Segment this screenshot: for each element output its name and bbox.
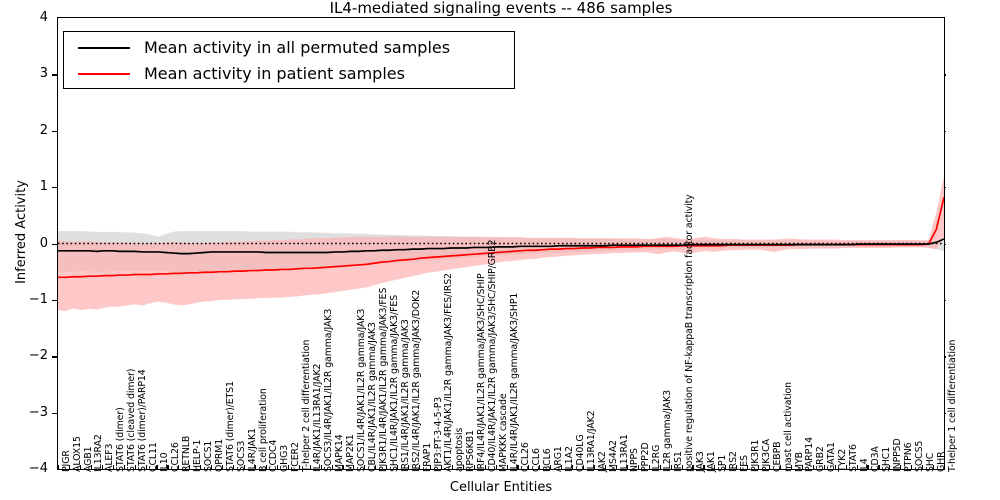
x-tick-mark [222, 465, 223, 470]
x-tick-label: IRS1/IL4R/JAK1/IL2R gamma/JAK3 [401, 319, 410, 472]
x-tick-mark [550, 465, 551, 470]
x-tick-label: SOCS1/IL4R/JAK1/IL2R gamma/JAK3 [357, 309, 366, 472]
x-tick-mark [802, 465, 803, 470]
x-tick-mark [167, 465, 168, 470]
x-tick-mark [682, 465, 683, 470]
x-tick-mark [146, 465, 147, 470]
x-tick-label: IRF4/IL4R/JAK1/IL2R gamma/JAK3/SHC/SHIP [477, 273, 486, 472]
x-tick-mark [200, 465, 201, 470]
x-tick-mark [211, 465, 212, 470]
x-tick-label: IL4R/JAK1/IL13RA1/JAK2 [313, 364, 322, 472]
x-tick-mark [485, 465, 486, 470]
x-tick-label: STAT6 (dimer)/ETS1 [226, 381, 235, 472]
x-axis-ticks: PIGRALOX15AGB1IL13RA2ALEF3STAT6 (dimer)S… [0, 0, 1000, 500]
x-tick-mark [277, 465, 278, 470]
x-tick-mark [922, 465, 923, 470]
x-tick-label: IL2R gamma/JAK3 [663, 390, 672, 472]
x-tick-mark [135, 465, 136, 470]
x-tick-mark [911, 465, 912, 470]
x-tick-mark [572, 465, 573, 470]
x-tick-mark [692, 465, 693, 470]
chart-root: IL4-mediated signaling events -- 486 sam… [0, 0, 1000, 500]
x-tick-mark [703, 465, 704, 470]
x-tick-label: T-helper 1 cell differentiation [948, 340, 957, 472]
x-tick-mark [386, 465, 387, 470]
x-tick-mark [80, 465, 81, 470]
x-tick-mark [124, 465, 125, 470]
x-tick-mark [507, 465, 508, 470]
x-tick-mark [113, 465, 114, 470]
x-tick-label: PIK3R1/IL4R/JAK1/IL2R gamma/JAK3/FES [379, 288, 388, 472]
x-tick-mark [660, 465, 661, 470]
x-tick-mark [824, 465, 825, 470]
x-tick-mark [627, 465, 628, 470]
x-tick-mark [463, 465, 464, 470]
x-tick-mark [867, 465, 868, 470]
x-tick-mark [474, 465, 475, 470]
x-tick-mark [539, 465, 540, 470]
x-tick-mark [441, 465, 442, 470]
x-tick-mark [944, 465, 945, 470]
x-tick-mark [266, 465, 267, 470]
x-tick-mark [758, 465, 759, 470]
x-tick-mark [769, 465, 770, 470]
x-tick-mark [714, 465, 715, 470]
x-tick-label: B cell proliferation [259, 388, 268, 472]
x-tick-mark [91, 465, 92, 470]
x-tick-mark [321, 465, 322, 470]
x-tick-mark [594, 465, 595, 470]
x-tick-label: STAT6 (dimer) [116, 407, 125, 472]
x-tick-mark [933, 465, 934, 470]
x-tick-mark [857, 465, 858, 470]
x-tick-mark [835, 465, 836, 470]
x-tick-label: STAT6 (dimer)/PARP14 [138, 369, 147, 472]
x-tick-label: MAPKKK cascade [499, 393, 508, 472]
x-tick-label: IL4R/IL4R/JAK1/IL2R gamma/JAK3/SHP1 [510, 293, 519, 472]
x-tick-mark [233, 465, 234, 470]
x-tick-mark [671, 465, 672, 470]
x-tick-mark [364, 465, 365, 470]
x-tick-mark [791, 465, 792, 470]
x-tick-label: T-helper 2 cell differentiation [302, 340, 311, 472]
x-tick-mark [583, 465, 584, 470]
x-tick-mark [310, 465, 311, 470]
x-tick-mark [408, 465, 409, 470]
x-tick-mark [878, 465, 879, 470]
x-tick-mark [638, 465, 639, 470]
x-tick-label: IL13RA1/JAK2 [587, 410, 596, 472]
x-tick-mark [353, 465, 354, 470]
x-tick-label: IRS2/IL4R/JAK1/IL2R gamma/JAK3/DOK2 [412, 290, 421, 472]
x-tick-mark [288, 465, 289, 470]
x-tick-mark [299, 465, 300, 470]
x-tick-mark [58, 465, 59, 470]
x-tick-mark [900, 465, 901, 470]
x-tick-mark [780, 465, 781, 470]
x-tick-label: PIP3:PT-3-4-5-P3 [434, 397, 443, 472]
x-tick-mark [605, 465, 606, 470]
x-tick-mark [102, 465, 103, 470]
x-tick-mark [255, 465, 256, 470]
x-tick-mark [561, 465, 562, 470]
x-tick-label: mast cell activation [784, 382, 793, 472]
x-tick-mark [178, 465, 179, 470]
x-tick-mark [517, 465, 518, 470]
x-tick-mark [813, 465, 814, 470]
x-tick-mark [430, 465, 431, 470]
x-tick-label: AKT1/IL4R/JAK1/IL2R gamma/JAK3/FES/IRS2 [444, 273, 453, 472]
x-tick-mark [747, 465, 748, 470]
x-tick-mark [69, 465, 70, 470]
x-tick-mark [889, 465, 890, 470]
x-tick-mark [342, 465, 343, 470]
x-tick-mark [616, 465, 617, 470]
x-tick-mark [528, 465, 529, 470]
x-tick-label: positive regulation of NF-kappaB transcr… [685, 194, 694, 472]
x-tick-mark [332, 465, 333, 470]
x-tick-mark [496, 465, 497, 470]
x-tick-label: SHC1/IL4R/JAK1/IL2R gamma/JAK3/FES [390, 295, 399, 472]
x-tick-mark [452, 465, 453, 470]
x-tick-mark [736, 465, 737, 470]
x-tick-mark [375, 465, 376, 470]
x-tick-label: CBL/IL4R/JAK1/IL2R gamma/JAK3 [368, 322, 377, 472]
x-tick-mark [649, 465, 650, 470]
x-tick-mark [397, 465, 398, 470]
x-tick-label: STAT6 (cleaved dimer) [127, 369, 136, 472]
x-tick-label: SOCS3/IL4R/JAK1/IL2R gamma/JAK3 [324, 309, 333, 472]
x-tick-mark [189, 465, 190, 470]
x-tick-label: CD40/IL4R/JAK1/IL2R gamma/JAK3/SHC/SHIP/… [488, 240, 497, 472]
x-tick-mark [244, 465, 245, 470]
x-tick-mark [156, 465, 157, 470]
x-tick-mark [725, 465, 726, 470]
x-tick-mark [419, 465, 420, 470]
x-tick-mark [846, 465, 847, 470]
